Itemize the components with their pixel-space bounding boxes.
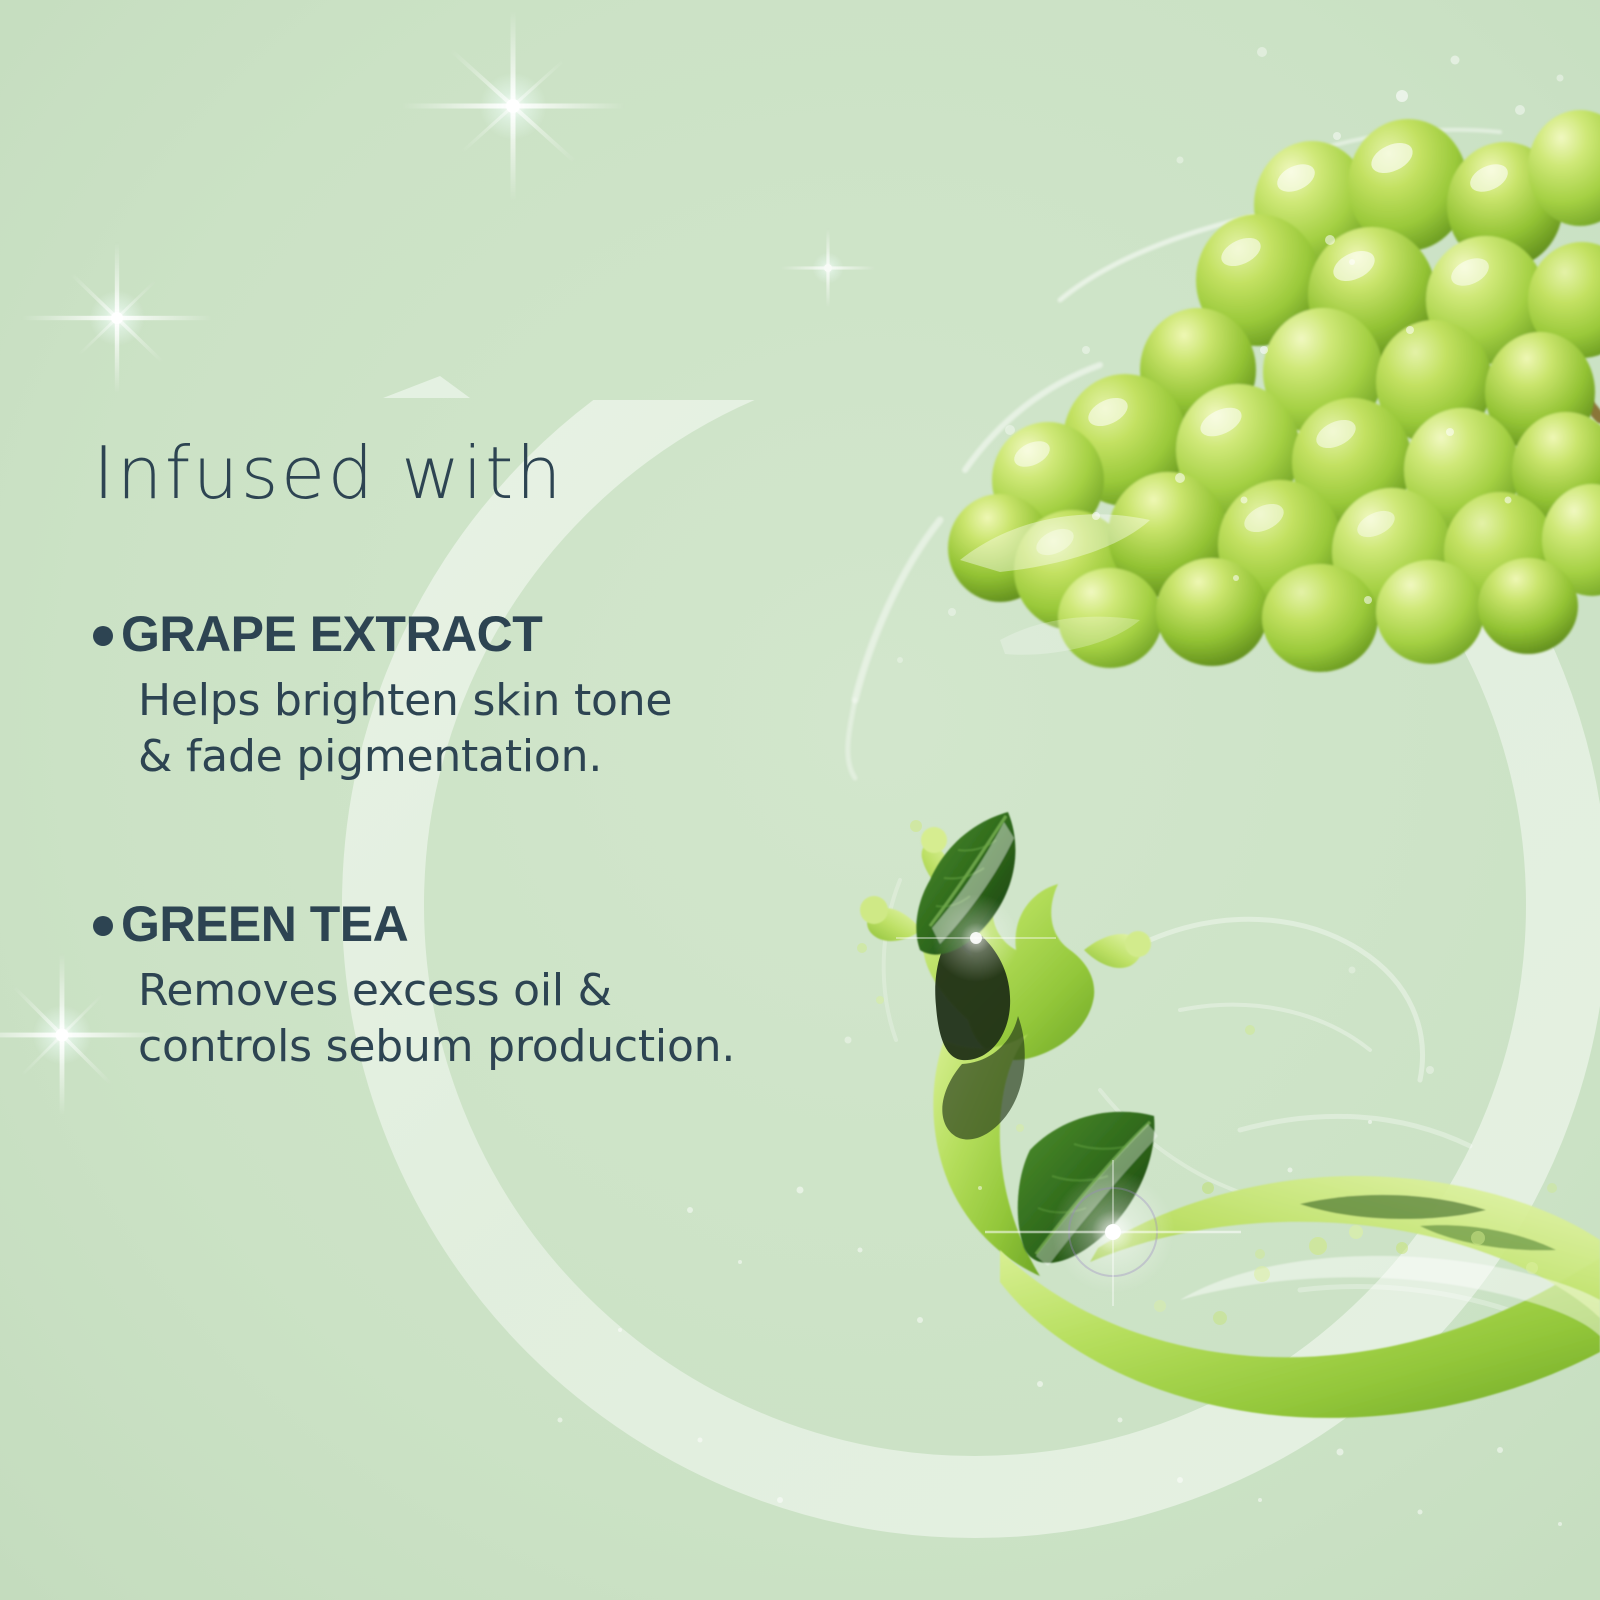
ingredient-item-grape-extract: GRAPE EXTRACT Helps brighten skin tone &… — [93, 608, 672, 785]
ingredient-name: GREEN TEA — [121, 898, 408, 951]
sparkle-top-icon — [401, 10, 625, 202]
poster-canvas: Infused with GRAPE EXTRACT Helps brighte… — [0, 0, 1600, 1600]
ingredient-item-green-tea: GREEN TEA Removes excess oil & controls … — [93, 898, 735, 1075]
background-bubbles — [558, 1120, 1563, 1526]
ingredient-heading: GRAPE EXTRACT — [93, 608, 672, 661]
ingredient-description: Removes excess oil & controls sebum prod… — [138, 963, 735, 1076]
sparkle-mid-icon — [780, 228, 876, 308]
ingredient-description: Helps brighten skin tone & fade pigmenta… — [138, 673, 672, 786]
page-title: Infused with — [93, 437, 564, 509]
sparkle-layer — [0, 0, 1600, 1600]
bullet-dot-icon — [93, 626, 113, 646]
bullet-dot-icon — [93, 916, 113, 936]
sparkle-left-icon — [21, 242, 213, 394]
ingredient-name: GRAPE EXTRACT — [121, 608, 542, 661]
ingredient-heading: GREEN TEA — [93, 898, 735, 951]
